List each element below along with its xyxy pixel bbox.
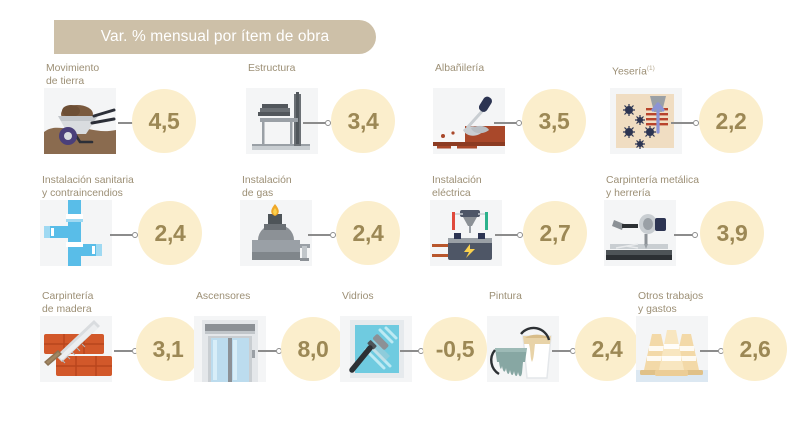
chart-item: Estructura 3,4: [246, 60, 395, 172]
connector-line: [400, 350, 418, 351]
electrical-battery-icon: [430, 200, 502, 266]
value-text: 3,5: [538, 108, 569, 135]
value-text: 2,7: [539, 220, 570, 247]
value-bubble: 3,9: [700, 201, 764, 265]
item-label: Otros trabajosy gastos: [638, 290, 703, 316]
item-label-line1: Pintura: [489, 290, 522, 303]
value-bubble: 3,1: [136, 317, 200, 381]
connector-line: [495, 234, 517, 235]
traffic-cones-icon: [636, 316, 708, 382]
chart-item: Albañilería 3,5: [433, 60, 586, 172]
item-label-line2: de madera: [42, 303, 93, 316]
connector-line: [258, 350, 276, 351]
item-row-2: Instalación sanitariay contraincendios 2…: [0, 172, 790, 284]
item-label-line1: Movimiento: [46, 62, 99, 75]
value-bubble: 2,4: [575, 317, 639, 381]
value-connector: [700, 347, 724, 355]
value-text: 3,9: [716, 220, 747, 247]
value-connector: [495, 231, 523, 239]
item-label-line1: Yesería(1): [612, 62, 655, 78]
chart-item: Carpinteríade madera 3,1: [40, 288, 200, 400]
item-label: Carpinteríade madera: [42, 290, 93, 316]
item-row-1: Movimientode tierra 4,5Estructura 3,4Alb…: [0, 60, 790, 172]
value-bubble: 8,0: [281, 317, 345, 381]
item-label-line2: de tierra: [46, 75, 99, 88]
connector-line: [674, 234, 692, 235]
item-label: Vidrios: [342, 290, 374, 303]
value-text: 4,5: [148, 108, 179, 135]
item-label-line1: Instalación sanitaria: [42, 174, 134, 187]
value-connector: [400, 347, 424, 355]
item-label-line2: y gastos: [638, 303, 703, 316]
value-bubble: 2,2: [699, 89, 763, 153]
item-label-line2: eléctrica: [432, 187, 482, 200]
chart-item: Ascensores 8,0: [194, 288, 345, 400]
value-connector: [674, 231, 698, 239]
item-label: Instalación sanitariay contraincendios: [42, 174, 134, 200]
item-label: Yesería(1): [612, 62, 655, 78]
chart-item: Yesería(1) 2,2: [610, 60, 763, 172]
chart-item: Instalaciónde gas 2,4: [240, 172, 400, 284]
chart-item: Instalacióneléctrica 2,7: [430, 172, 587, 284]
value-connector: [303, 119, 331, 127]
item-label-line1: Carpintería metálica: [606, 174, 699, 187]
connector-line: [110, 234, 132, 235]
value-bubble: -0,5: [423, 317, 487, 381]
page-title: Var. % mensual por ítem de obra: [101, 28, 330, 46]
value-text: 2,2: [715, 108, 746, 135]
value-text: 3,1: [152, 336, 183, 363]
plumbing-pipes-icon: [40, 200, 112, 266]
value-text: 2,4: [352, 220, 383, 247]
item-label: Movimientode tierra: [46, 62, 99, 88]
value-bubble: 2,4: [336, 201, 400, 265]
value-bubble: 2,7: [523, 201, 587, 265]
value-text: 3,4: [347, 108, 378, 135]
value-bubble: 3,4: [331, 89, 395, 153]
item-label-line2: de gas: [242, 187, 292, 200]
value-text: 8,0: [297, 336, 328, 363]
item-label: Ascensores: [196, 290, 250, 303]
item-label-line1: Ascensores: [196, 290, 250, 303]
chart-item: Instalación sanitariay contraincendios 2…: [40, 172, 202, 284]
value-text: 2,4: [154, 220, 185, 247]
chart-item: Pintura 2,4: [487, 288, 639, 400]
value-connector: [114, 347, 138, 355]
connector-line: [700, 350, 718, 351]
connector-dot-icon: [692, 232, 698, 238]
value-text: 2,4: [591, 336, 622, 363]
item-label: Pintura: [489, 290, 522, 303]
value-connector: [110, 231, 138, 239]
elevator-icon: [194, 316, 266, 382]
item-label-line2: y contraincendios: [42, 187, 134, 200]
item-label-line1: Vidrios: [342, 290, 374, 303]
wheelbarrow-icon: [44, 88, 116, 154]
chart-item: Vidrios -0,5: [340, 288, 487, 400]
metal-drill-icon: [604, 200, 676, 266]
connector-line: [308, 234, 330, 235]
value-connector: [258, 347, 282, 355]
item-footnote-marker: (1): [647, 65, 655, 72]
item-label-line1: Instalación: [242, 174, 292, 187]
value-connector: [552, 347, 576, 355]
value-bubble: 2,4: [138, 201, 202, 265]
chart-item: Otros trabajosy gastos 2,6: [636, 288, 787, 400]
item-label-line1: Estructura: [248, 62, 295, 75]
value-bubble: 3,5: [522, 89, 586, 153]
item-label: Estructura: [248, 62, 295, 75]
handsaw-wood-icon: [40, 316, 112, 382]
header-banner: Var. % mensual por ítem de obra: [54, 20, 376, 54]
paint-bucket-icon: [487, 316, 559, 382]
value-connector: [494, 119, 522, 127]
item-label: Carpintería metálicay herrería: [606, 174, 699, 200]
item-label-line1: Otros trabajos: [638, 290, 703, 303]
value-connector: [308, 231, 336, 239]
connector-line: [114, 350, 132, 351]
item-label: Albañilería: [435, 62, 484, 75]
item-label-line1: Albañilería: [435, 62, 484, 75]
value-bubble: 2,6: [723, 317, 787, 381]
value-connector: [671, 119, 699, 127]
connector-line: [494, 122, 516, 123]
chart-item: Movimientode tierra 4,5: [44, 60, 196, 172]
chart-item: Carpintería metálicay herrería 3,9: [604, 172, 764, 284]
item-label: Instalaciónde gas: [242, 174, 292, 200]
gas-regulator-icon: [240, 200, 312, 266]
connector-line: [303, 122, 325, 123]
item-label-line2: y herrería: [606, 187, 699, 200]
value-text: -0,5: [436, 336, 474, 363]
item-row-3: Carpinteríade madera 3,1Ascensores 8,0Vi…: [0, 288, 790, 400]
value-bubble: 4,5: [132, 89, 196, 153]
item-label-line1: Instalación: [432, 174, 482, 187]
item-label-line1: Carpintería: [42, 290, 93, 303]
item-label: Instalacióneléctrica: [432, 174, 482, 200]
value-text: 2,6: [739, 336, 770, 363]
connector-line: [671, 122, 693, 123]
connector-line: [552, 350, 570, 351]
